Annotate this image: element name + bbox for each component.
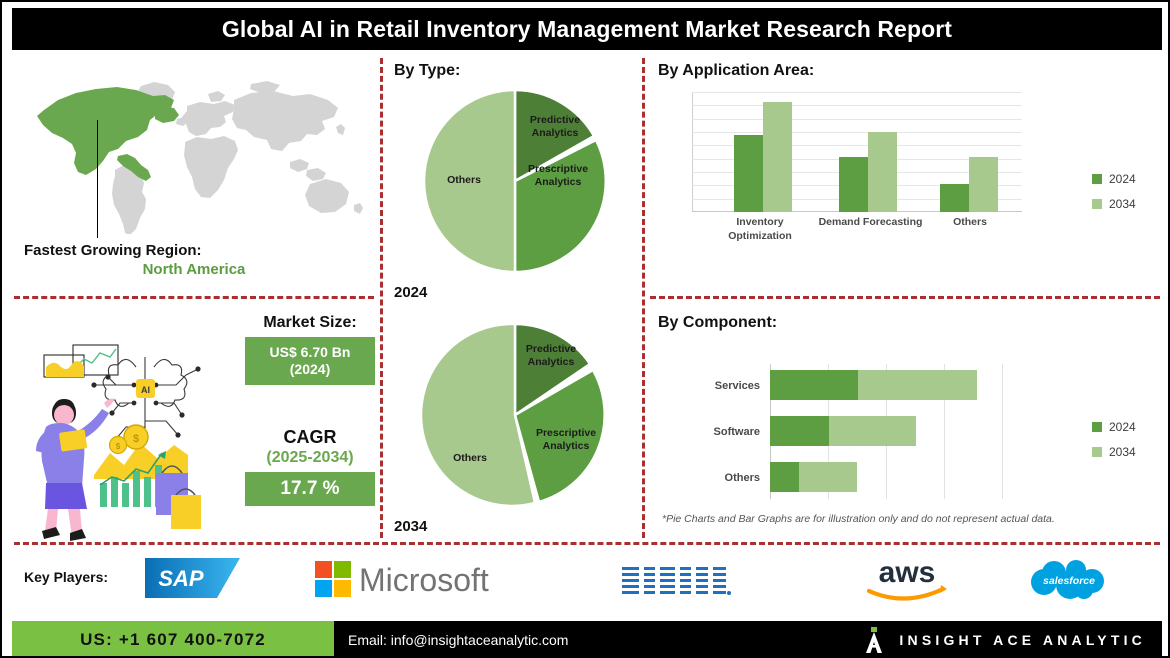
application-category-labels: Inventory Optimization Demand Forecastin… bbox=[692, 216, 1022, 250]
map-pointer-line bbox=[97, 120, 98, 238]
logo-microsoft: Microsoft bbox=[315, 558, 537, 602]
gridline bbox=[692, 92, 1022, 93]
legend-label-2024: 2024 bbox=[1109, 172, 1136, 186]
market-size-year: (2024) bbox=[290, 361, 330, 379]
footer-bar: Email: info@insightaceanalytic.com INSIG… bbox=[334, 621, 1162, 658]
header-bar: Global AI in Retail Inventory Management… bbox=[12, 8, 1162, 50]
svg-text:salesforce: salesforce bbox=[1043, 575, 1095, 587]
legend-swatch-2034 bbox=[1092, 199, 1102, 209]
infographic-root: Global AI in Retail Inventory Management… bbox=[0, 0, 1170, 658]
divider-horizontal-right bbox=[650, 296, 1160, 299]
logo-aws: aws bbox=[857, 555, 957, 603]
hbar-label-others: Others bbox=[650, 472, 760, 484]
hbar-row-others bbox=[770, 462, 857, 492]
hbar-seg-2024 bbox=[770, 370, 858, 400]
divider-horizontal-left bbox=[14, 296, 374, 299]
market-size-box: US$ 6.70 Bn (2024) bbox=[245, 337, 375, 385]
legend-swatch-2034 bbox=[1092, 447, 1102, 457]
legend-label-2024: 2024 bbox=[1109, 420, 1136, 434]
footer-phone: US: +1 607 400-7072 bbox=[80, 630, 266, 650]
page-title: Global AI in Retail Inventory Management… bbox=[222, 16, 952, 43]
logo-ibm bbox=[622, 565, 732, 601]
bar-2034 bbox=[969, 157, 998, 212]
category-label: Inventory Optimization bbox=[710, 216, 810, 243]
legend-item-2024: 2024 bbox=[1092, 172, 1136, 186]
fastest-region-value: North America bbox=[24, 261, 364, 278]
category-label: Others bbox=[930, 216, 1010, 230]
ai-retail-illustration: AI $ $ bbox=[16, 327, 236, 542]
svg-text:$: $ bbox=[133, 433, 139, 445]
bar-2024 bbox=[734, 135, 763, 212]
legend-label-2034: 2034 bbox=[1109, 445, 1136, 459]
hbar-label-services: Services bbox=[650, 380, 760, 392]
pie-chart-2024 bbox=[422, 88, 608, 274]
by-type-title: By Type: bbox=[394, 62, 460, 80]
bar-2034 bbox=[763, 102, 792, 212]
logo-salesforce: salesforce bbox=[1022, 557, 1118, 601]
bar-2024 bbox=[839, 157, 868, 212]
legend-item-2034: 2034 bbox=[1092, 445, 1136, 459]
legend-swatch-2024 bbox=[1092, 174, 1102, 184]
cagr-value-box: 17.7 % bbox=[245, 472, 375, 506]
cagr-value: 17.7 % bbox=[280, 478, 339, 500]
market-size-title: Market Size: bbox=[245, 314, 375, 332]
world-map bbox=[22, 74, 372, 234]
divider-vertical-right bbox=[642, 58, 645, 538]
bar-group-demand-forecasting bbox=[839, 132, 897, 212]
component-chart-legend: 2024 2034 bbox=[1092, 420, 1136, 470]
legend-item-2034: 2034 bbox=[1092, 197, 1136, 211]
key-players-label: Key Players: bbox=[24, 569, 108, 585]
bar-2024 bbox=[940, 184, 969, 212]
svg-text:AI: AI bbox=[141, 385, 150, 395]
component-bar-chart bbox=[770, 364, 1015, 499]
chart-disclaimer-note: *Pie Charts and Bar Graphs are for illus… bbox=[662, 513, 1102, 525]
svg-text:SAP: SAP bbox=[158, 566, 204, 591]
by-application-title: By Application Area: bbox=[658, 62, 814, 80]
cagr-range: (2025-2034) bbox=[245, 449, 375, 467]
cagr-title: CAGR bbox=[245, 427, 375, 448]
svg-text:$: $ bbox=[116, 442, 121, 451]
application-bar-chart bbox=[692, 92, 1022, 212]
hbar-row-services bbox=[770, 370, 977, 400]
hbar-seg-2034 bbox=[858, 370, 977, 400]
hbar-seg-2034 bbox=[799, 462, 857, 492]
divider-vertical-left bbox=[380, 58, 383, 538]
legend-label-2034: 2034 bbox=[1109, 197, 1136, 211]
footer-phone-bar: US: +1 607 400-7072 bbox=[12, 621, 334, 658]
footer-email: Email: info@insightaceanalytic.com bbox=[348, 632, 568, 648]
hbar-row-software bbox=[770, 416, 916, 446]
category-label: Demand Forecasting bbox=[808, 216, 933, 230]
legend-item-2024: 2024 bbox=[1092, 420, 1136, 434]
pie-2024-year: 2024 bbox=[394, 284, 427, 301]
hbar-seg-2024 bbox=[770, 462, 799, 492]
legend-swatch-2024 bbox=[1092, 422, 1102, 432]
insight-ace-logo-icon bbox=[863, 627, 885, 653]
gridline bbox=[1002, 364, 1003, 499]
svg-text:Microsoft: Microsoft bbox=[359, 562, 489, 598]
bar-group-others bbox=[940, 157, 998, 212]
hbar-seg-2034 bbox=[829, 416, 916, 446]
logo-sap: SAP bbox=[145, 554, 240, 602]
by-component-title: By Component: bbox=[658, 314, 777, 332]
hbar-seg-2024 bbox=[770, 416, 829, 446]
pie-2034-year: 2034 bbox=[394, 518, 427, 535]
pie-chart-2034 bbox=[422, 322, 608, 508]
application-chart-legend: 2024 2034 bbox=[1092, 172, 1136, 222]
hbar-label-software: Software bbox=[650, 426, 760, 438]
footer-brand-name: INSIGHT ACE ANALYTIC bbox=[899, 632, 1146, 648]
bar-2034 bbox=[868, 132, 897, 212]
svg-text:aws: aws bbox=[879, 556, 936, 589]
divider-horizontal-bottom bbox=[14, 542, 1160, 545]
fastest-region-label: Fastest Growing Region: bbox=[24, 242, 364, 259]
footer-brand: INSIGHT ACE ANALYTIC bbox=[863, 621, 1146, 658]
market-size-value: US$ 6.70 Bn bbox=[270, 344, 351, 362]
chart-y-axis bbox=[692, 92, 693, 212]
bar-group-inventory-optimization bbox=[734, 102, 792, 212]
